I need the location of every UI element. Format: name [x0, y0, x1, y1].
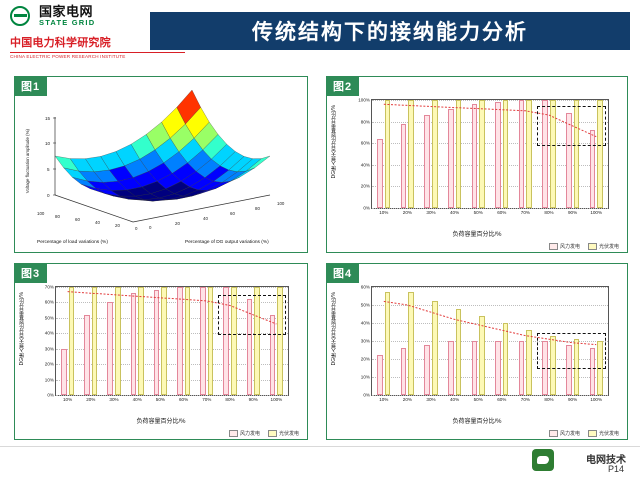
- wind-swatch-icon: [229, 430, 238, 437]
- y-axis-tick: 20%: [361, 184, 370, 189]
- x-axis-tick: 40%: [450, 210, 459, 215]
- svg-text:0: 0: [149, 225, 152, 230]
- x-axis-tick: 90%: [249, 397, 258, 402]
- annotation-box: [537, 333, 606, 369]
- x-axis-tick: 40%: [450, 397, 459, 402]
- y-axis-tick: 40%: [45, 331, 54, 336]
- chart2-legend-pv-label: 光伏发电: [599, 243, 619, 250]
- y-axis-tick: 60%: [361, 285, 370, 290]
- chart4-legend-pv: 光伏发电: [588, 430, 619, 437]
- state-grid-name-en: STATE GRID: [39, 19, 95, 27]
- wechat-icon: [532, 449, 554, 471]
- svg-text:20: 20: [115, 223, 120, 228]
- svg-text:100: 100: [37, 211, 45, 216]
- x-axis-tick: 30%: [109, 397, 118, 402]
- svg-text:80: 80: [55, 214, 60, 219]
- svg-text:60: 60: [75, 217, 80, 222]
- svg-text:5: 5: [47, 167, 50, 172]
- y-axis-tick: 100%: [358, 98, 370, 103]
- chart2-legend: 风力发电 光伏发电: [549, 243, 619, 250]
- x-axis-tick: 50%: [156, 397, 165, 402]
- page-number: P14: [608, 464, 624, 474]
- chart4-ylabel-wrap: DG接入费大百分比容量百分比/%: [330, 292, 342, 402]
- x-axis-tick: 60%: [179, 397, 188, 402]
- slide-title-bar: 传统结构下的接纳能力分析: [150, 12, 630, 50]
- state-grid-name-cn: 国家电网: [39, 5, 95, 19]
- svg-text:15: 15: [45, 116, 51, 121]
- x-axis-tick: 50%: [474, 397, 483, 402]
- y-axis-tick: 10%: [361, 375, 370, 380]
- y-axis-tick: 40%: [361, 162, 370, 167]
- y-axis-tick: 20%: [45, 362, 54, 367]
- y-axis-tick: 0%: [363, 393, 370, 398]
- figure-panel-2: 图2 DG接入费大百分比容量百分比/% 0%20%40%60%80%100%10…: [326, 76, 628, 253]
- x-axis-tick: 10%: [379, 397, 388, 402]
- x-axis-tick: 20%: [403, 210, 412, 215]
- footer-divider: [0, 446, 640, 447]
- slide-header: 国家电网 STATE GRID 中国电力科学研究院 CHINA ELECTRIC…: [0, 0, 640, 62]
- chart4-legend-pv-label: 光伏发电: [599, 430, 619, 437]
- chart2-legend-pv: 光伏发电: [588, 243, 619, 250]
- svg-text:20: 20: [175, 221, 180, 226]
- x-axis-tick: 50%: [474, 210, 483, 215]
- chart3-legend: 风力发电 光伏发电: [229, 430, 299, 437]
- y-axis-tick: 20%: [361, 357, 370, 362]
- x-axis-tick: 10%: [63, 397, 72, 402]
- y-axis-tick: 10%: [45, 377, 54, 382]
- chart2-legend-wind-label: 风力发电: [560, 243, 580, 250]
- x-axis-tick: 60%: [497, 210, 506, 215]
- pv-swatch-icon: [268, 430, 277, 437]
- svg-text:80: 80: [255, 206, 260, 211]
- surface-chart-1: 05 1015 020 4060 80100 020 4060 80100 Pe…: [15, 77, 307, 252]
- y-axis-tick: 70%: [45, 285, 54, 290]
- epri-name-en: CHINA ELECTRIC POWER RESEARCH INSTITUTE: [10, 54, 190, 59]
- x-axis-tick: 10%: [379, 210, 388, 215]
- chart2-ylabel-wrap: DG接入费大百分比容量百分比/%: [330, 105, 342, 215]
- chart4-ylabel: DG接入费大百分比容量百分比/%: [330, 292, 337, 365]
- figure-panel-4: 图4 DG接入费大百分比容量百分比/% 0%10%20%30%40%50%60%…: [326, 263, 628, 440]
- x-axis-tick: 100%: [590, 210, 602, 215]
- x-axis-tick: 100%: [271, 397, 283, 402]
- chart4-legend: 风力发电 光伏发电: [549, 430, 619, 437]
- chart2-legend-wind: 风力发电: [549, 243, 580, 250]
- chart4-legend-wind-label: 风力发电: [560, 430, 580, 437]
- surface-ylabel: Percentage of DG output variations (%): [185, 239, 269, 245]
- gridline: [56, 395, 288, 396]
- state-grid-logo-icon: [10, 4, 34, 28]
- page-title: 传统结构下的接纳能力分析: [252, 16, 528, 46]
- x-axis-tick: 70%: [521, 210, 530, 215]
- logo-divider: [10, 52, 185, 53]
- x-axis-tick: 80%: [544, 397, 553, 402]
- surface-plot-svg: 05 1015 020 4060 80100 020 4060 80100 Pe…: [15, 77, 307, 252]
- bar-chart-2: DG接入费大百分比容量百分比/% 0%20%40%60%80%100%10%20…: [327, 77, 627, 252]
- x-axis-tick: 90%: [568, 210, 577, 215]
- chart3-legend-wind: 风力发电: [229, 430, 260, 437]
- figure-panel-1: 图1 05 1015: [14, 76, 308, 253]
- y-axis-tick: 50%: [45, 315, 54, 320]
- chart3-ylabel-wrap: DG接入费大百分比容量百分比/%: [18, 292, 30, 402]
- chart4-plot-area: 0%10%20%30%40%50%60%10%20%30%40%50%60%70…: [371, 286, 609, 396]
- x-axis-tick: 30%: [426, 210, 435, 215]
- chart3-ylabel: DG接入费大百分比容量百分比/%: [18, 292, 25, 365]
- svg-text:0: 0: [47, 193, 50, 198]
- bar-chart-4: DG接入费大百分比容量百分比/% 0%10%20%30%40%50%60%10%…: [327, 264, 627, 439]
- surface-zlabel: Voltage fluctuation amplitude (%): [25, 129, 31, 193]
- y-axis-tick: 30%: [361, 339, 370, 344]
- y-axis-tick: 0%: [363, 206, 370, 211]
- y-axis-tick: 0%: [47, 393, 54, 398]
- surface-zlabel-wrap: Voltage fluctuation amplitude (%): [25, 129, 35, 199]
- x-axis-tick: 60%: [497, 397, 506, 402]
- figure-panel-3: 图3 DG接入费大百分比容量百分比/% 0%10%20%30%40%50%60%…: [14, 263, 308, 440]
- y-axis-tick: 60%: [45, 300, 54, 305]
- x-axis-tick: 90%: [568, 397, 577, 402]
- y-axis-tick: 50%: [361, 303, 370, 308]
- x-axis-tick: 20%: [86, 397, 95, 402]
- x-axis-tick: 20%: [403, 397, 412, 402]
- x-axis-tick: 100%: [590, 397, 602, 402]
- chart4-xlabel: 负荷容量百分比/%: [327, 416, 627, 425]
- svg-text:60: 60: [230, 211, 235, 216]
- chart2-xlabel: 负荷容量百分比/%: [327, 229, 627, 238]
- x-axis-tick: 30%: [426, 397, 435, 402]
- gridline: [372, 208, 608, 209]
- x-axis-tick: 80%: [544, 210, 553, 215]
- chart3-xlabel: 负荷容量百分比/%: [15, 416, 307, 425]
- chart3-legend-wind-label: 风力发电: [240, 430, 260, 437]
- y-axis-tick: 30%: [45, 346, 54, 351]
- x-axis-tick: 70%: [521, 397, 530, 402]
- chart3-legend-pv-label: 光伏发电: [279, 430, 299, 437]
- svg-text:40: 40: [95, 220, 100, 225]
- y-axis-tick: 40%: [361, 321, 370, 326]
- annotation-box: [537, 106, 606, 146]
- chart3-legend-pv: 光伏发电: [268, 430, 299, 437]
- chart4-legend-wind: 风力发电: [549, 430, 580, 437]
- y-axis-tick: 80%: [361, 119, 370, 124]
- surface-xlabel: Percentage of load variations (%): [37, 239, 108, 245]
- x-axis-tick: 70%: [202, 397, 211, 402]
- bar-chart-3: DG接入费大百分比容量百分比/% 0%10%20%30%40%50%60%70%…: [15, 264, 307, 439]
- chart2-ylabel: DG接入费大百分比容量百分比/%: [330, 105, 337, 178]
- x-axis-tick: 40%: [133, 397, 142, 402]
- svg-text:0: 0: [135, 226, 138, 231]
- wind-swatch-icon: [549, 243, 558, 250]
- y-axis-tick: 60%: [361, 141, 370, 146]
- svg-text:10: 10: [45, 141, 51, 146]
- pv-swatch-icon: [588, 430, 597, 437]
- annotation-box: [218, 295, 286, 335]
- svg-text:100: 100: [277, 201, 285, 206]
- wind-swatch-icon: [549, 430, 558, 437]
- pv-swatch-icon: [588, 243, 597, 250]
- svg-text:40: 40: [203, 216, 208, 221]
- x-axis-tick: 80%: [225, 397, 234, 402]
- chart2-plot-area: 0%20%40%60%80%100%10%20%30%40%50%60%70%8…: [371, 99, 609, 209]
- chart3-plot-area: 0%10%20%30%40%50%60%70%10%20%30%40%50%60…: [55, 286, 289, 396]
- gridline: [372, 395, 608, 396]
